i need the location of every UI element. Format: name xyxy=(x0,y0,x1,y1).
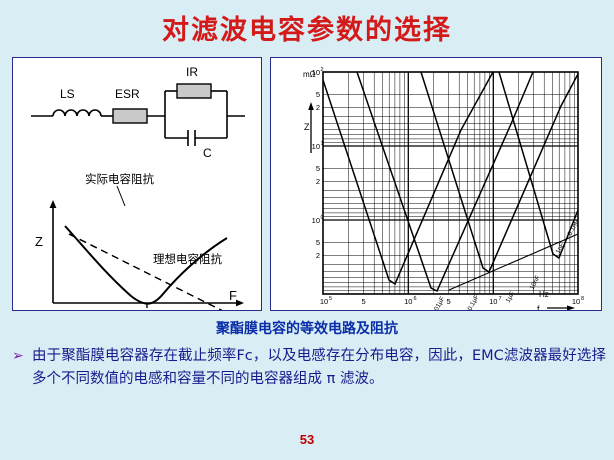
x-exp-6: 6 xyxy=(414,296,417,302)
x-tick-1e7: 10 xyxy=(489,297,497,306)
annotation-actual-impedance: 实际电容阻抗 xyxy=(85,172,154,186)
impedance-frequency-chart: 0.01µF 0.1µF 1µF 10nF 1nF 0.1nF Z mΩ 10 … xyxy=(271,58,601,310)
y-exp-2: 2 xyxy=(321,67,324,73)
y-tick-10e0: 10 xyxy=(312,216,320,225)
y-tick-5c: 5 xyxy=(316,238,320,247)
bullet-text: 由于聚酯膜电容器存在截止频率Fc，以及电感存在分布电容，因此，EMC滤波器最好选… xyxy=(32,345,606,391)
x-tick-5b: 5 xyxy=(447,297,451,306)
label-esr: ESR xyxy=(115,87,140,101)
circuit-and-impedance-diagram: LS ESR IR C Z F Fc 实际电容阻抗 理想电容阻抗 xyxy=(13,58,261,310)
y-tick-2c: 2 xyxy=(316,251,320,260)
y-axis-symbol: Z xyxy=(304,122,310,132)
label-ir: IR xyxy=(186,65,198,79)
figure-caption: 聚酯膜电容的等效电路及阻抗 xyxy=(0,318,614,338)
y-tick-10e1: 10 xyxy=(312,142,320,151)
label-c: C xyxy=(203,146,212,160)
y-exp-1: 1 xyxy=(321,141,324,147)
curve-label-0: 0.01µF xyxy=(431,296,447,310)
y-tick-2a: 2 xyxy=(316,103,320,112)
bullet-marker-icon: ➢ xyxy=(12,345,24,368)
x-exp-8: 8 xyxy=(581,296,584,302)
right-figure-panel: 0.01µF 0.1µF 1µF 10nF 1nF 0.1nF Z mΩ 10 … xyxy=(270,57,602,311)
x-exp-5: 5 xyxy=(329,296,332,302)
label-fc: Fc xyxy=(137,309,150,310)
page-number: 53 xyxy=(0,432,614,447)
x-tick-1e5: 10 xyxy=(320,297,328,306)
left-figure-panel: LS ESR IR C Z F Fc 实际电容阻抗 理想电容阻抗 xyxy=(12,57,262,311)
x-tick-1e8: 10 xyxy=(572,297,580,306)
label-z-axis: Z xyxy=(35,234,43,249)
y-tick-10e2: 10 xyxy=(312,68,320,77)
slide: 对滤波电容参数的选择 LS xyxy=(0,0,614,460)
y-exp-0: 0 xyxy=(321,215,324,221)
x-tick-5a: 5 xyxy=(362,297,366,306)
curve-label-1: 0.1µF xyxy=(467,294,481,310)
x-axis-unit: Hz xyxy=(539,290,549,299)
y-tick-5b: 5 xyxy=(316,164,320,173)
annotation-ideal-impedance: 理想电容阻抗 xyxy=(153,252,222,266)
bullet-paragraph: ➢ 由于聚酯膜电容器存在截止频率Fc，以及电感存在分布电容，因此，EMC滤波器最… xyxy=(10,345,606,391)
x-exp-7: 7 xyxy=(499,296,502,302)
label-f-axis: F xyxy=(229,288,237,303)
y-tick-5a: 5 xyxy=(316,90,320,99)
x-axis-symbol: f xyxy=(537,304,540,310)
page-title: 对滤波电容参数的选择 xyxy=(0,8,614,47)
y-tick-2b: 2 xyxy=(316,177,320,186)
label-ls: LS xyxy=(60,87,75,101)
x-tick-1e6: 10 xyxy=(404,297,412,306)
